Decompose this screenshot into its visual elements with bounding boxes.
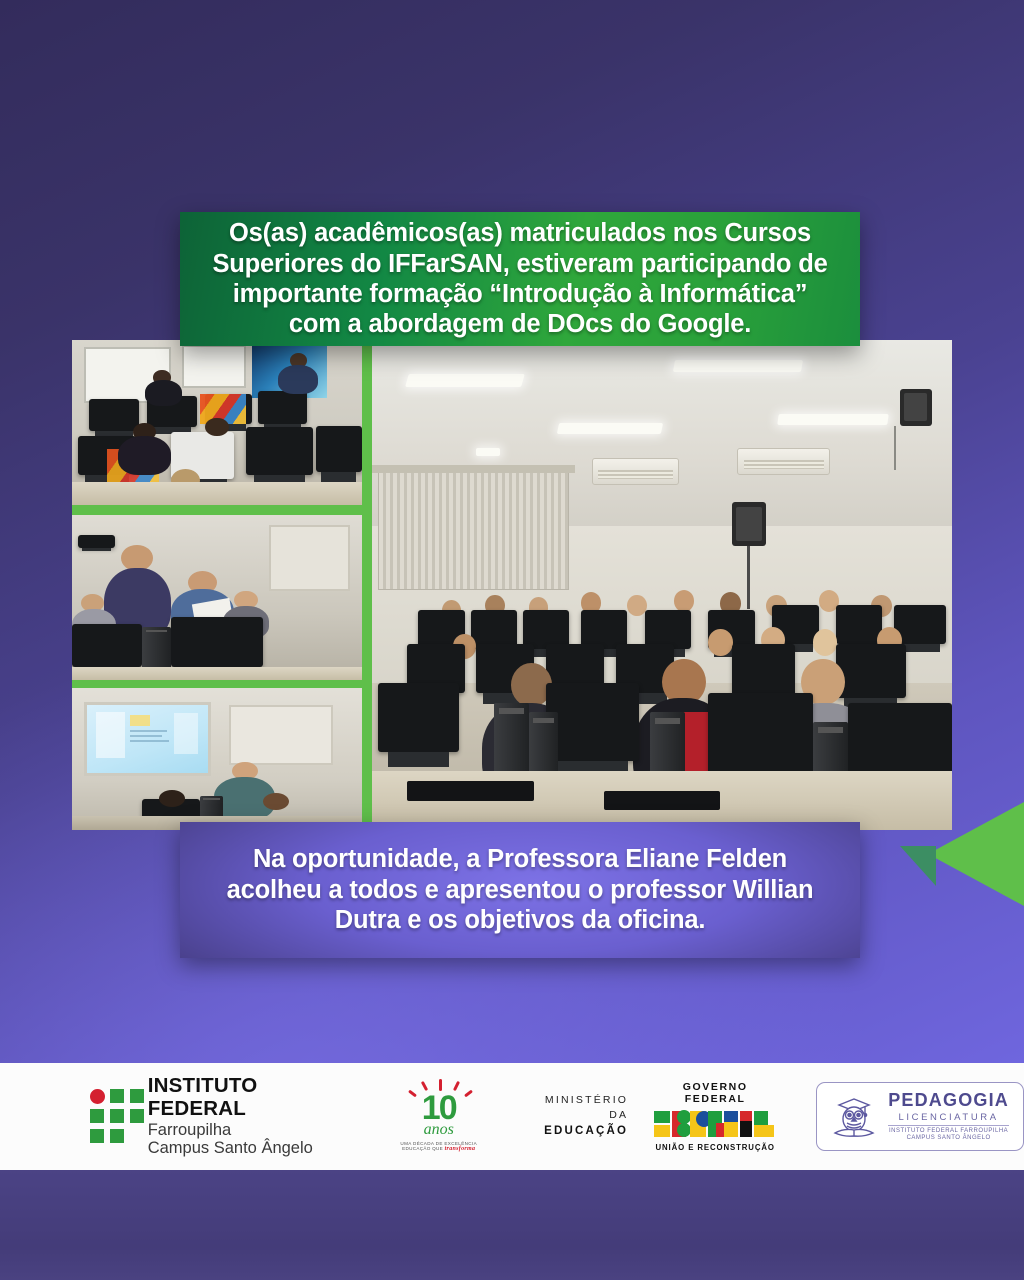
- gov-line-top: GOVERNO FEDERAL: [654, 1081, 776, 1105]
- logo-instituto-federal: INSTITUTO FEDERAL Farroupilha Campus San…: [90, 1075, 337, 1158]
- bottom-purple-bar: [0, 1170, 1024, 1280]
- ten-years-number: 10: [393, 1081, 485, 1125]
- iffar-line-1: INSTITUTO FEDERAL: [148, 1075, 337, 1121]
- logo-ten-years: 10 anos UMA DÉCADA DE EXCELÊNCIA EDUCAÇÃ…: [393, 1081, 485, 1152]
- ten-years-sub2: EDUCAÇÃO QUE transforma: [393, 1146, 485, 1152]
- gov-line-bottom: UNIÃO E RECONSTRUÇÃO: [654, 1143, 776, 1152]
- logo-ministerio-educacao: MINISTÉRIO DA EDUCAÇÃO: [533, 1093, 628, 1140]
- iffar-mark-icon: [90, 1089, 138, 1145]
- iffar-line-2: Farroupilha: [148, 1121, 337, 1139]
- footer-logo-bar: INSTITUTO FEDERAL Farroupilha Campus San…: [0, 1063, 1024, 1170]
- ten-years-sub2-prefix: EDUCAÇÃO QUE: [402, 1146, 444, 1151]
- photo-instructor-standing-with-students: [72, 515, 362, 680]
- owl-graduate-icon: [831, 1091, 877, 1141]
- photo-main-computer-lab-wide: [372, 340, 952, 830]
- iffar-line-3: Campus Santo Ângelo: [148, 1139, 337, 1157]
- pedagogia-title: PEDAGOGIA: [888, 1090, 1009, 1112]
- purple-banner-text: Na oportunidade, a Professora Eliane Fel…: [206, 844, 834, 935]
- green-triangle-accent-shadow: [900, 846, 936, 886]
- photo-collage: [72, 340, 952, 830]
- photo-projection-screen-presentation: [72, 688, 362, 830]
- mec-line-1: MINISTÉRIO DA: [533, 1093, 628, 1123]
- green-headline-banner: Os(as) acadêmicos(as) matriculados nos C…: [180, 212, 860, 346]
- mec-line-2: EDUCAÇÃO: [533, 1123, 628, 1140]
- pedagogia-subtitle: LICENCIATURA: [888, 1112, 1009, 1126]
- logo-governo-federal: GOVERNO FEDERAL: [654, 1081, 776, 1152]
- green-banner-text: Os(as) acadêmicos(as) matriculados nos C…: [206, 218, 834, 339]
- pedagogia-line-4: CAMPUS SANTO ÂNGELO: [888, 1135, 1009, 1142]
- purple-caption-banner: Na oportunidade, a Professora Eliane Fel…: [180, 822, 860, 958]
- logo-pedagogia: PEDAGOGIA LICENCIATURA INSTITUTO FEDERAL…: [816, 1082, 1024, 1150]
- ten-years-sub2-highlight: transforma: [445, 1146, 476, 1152]
- photo-computer-lab-students-rear: [72, 340, 362, 505]
- brasil-wordmark-icon: [654, 1107, 776, 1141]
